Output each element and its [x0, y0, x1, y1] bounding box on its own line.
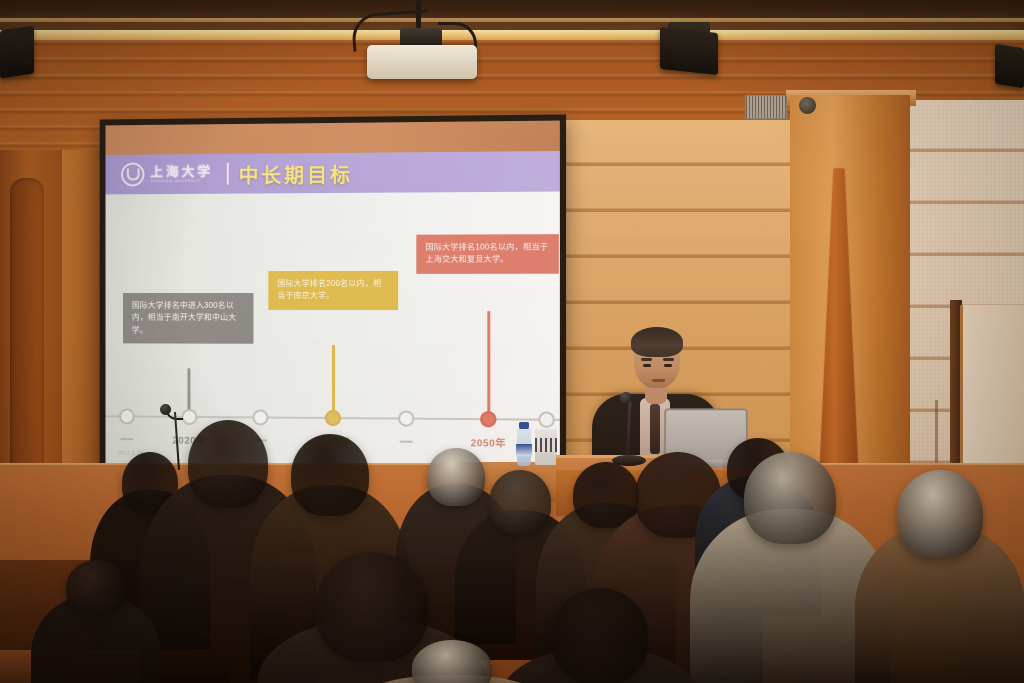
projector-icon — [367, 45, 477, 79]
connector-2050 — [487, 311, 490, 418]
slide-top-band — [106, 121, 560, 155]
audience-member — [31, 560, 161, 683]
water-bottle-label — [516, 444, 532, 456]
university-logo: 上海大学 SHANGHAI UNIVERSITY — [121, 162, 213, 186]
emblem-inner-shape — [126, 169, 139, 181]
logo-text-block: 上海大学 SHANGHAI UNIVERSITY — [150, 165, 213, 184]
timeline-node-1 — [119, 408, 135, 424]
timeline-node-2050 — [480, 411, 496, 427]
audience-member-head — [552, 588, 648, 683]
water-bottle-cap — [519, 422, 529, 429]
presenter-hair — [631, 327, 683, 357]
logo-english-name: SHANGHAI UNIVERSITY — [150, 180, 213, 184]
lecture-hall-photo: 上海大学 SHANGHAI UNIVERSITY 中长期目标 国际大学排名中进入… — [0, 0, 1024, 683]
microphone-icon-floor — [160, 404, 171, 415]
timeline-dash-1 — [121, 438, 134, 440]
presenter-mouth — [652, 379, 665, 382]
loudspeaker-icon-center — [660, 27, 718, 75]
callout-2020: 国际大学排名中进入300名以内，相当于南开大学和中山大学。 — [123, 293, 253, 344]
logo-chinese-name: 上海大学 — [150, 165, 213, 178]
audience-member — [855, 470, 1024, 683]
projector-vent — [745, 95, 787, 119]
presenter-brow-left — [641, 358, 652, 361]
slide-header: 上海大学 SHANGHAI UNIVERSITY 中长期目标 — [106, 151, 560, 194]
projector-lens-icon — [799, 97, 816, 114]
presenter-eye-right — [664, 364, 672, 367]
audience-member-head — [897, 470, 983, 558]
audience-member-head — [744, 452, 836, 544]
left-panel-inlay — [10, 178, 44, 508]
microphone-icon-podium — [620, 392, 632, 404]
university-emblem-icon — [121, 163, 144, 187]
loudspeaker-icon-left — [0, 26, 34, 79]
cup-band — [535, 438, 557, 452]
callout-2050: 国际大学排名100名以内，相当于上海交大和复旦大学。 — [416, 234, 559, 274]
loudspeaker-icon-right — [995, 44, 1024, 89]
audience-member-head — [291, 434, 369, 516]
presenter-eye-left — [643, 364, 651, 367]
presenter-brow-right — [663, 358, 674, 361]
timeline-node-2030 — [325, 410, 341, 426]
audience-member — [357, 640, 547, 683]
slide-title: 中长期目标 — [239, 158, 353, 188]
header-divider — [227, 163, 229, 185]
timeline-node-7 — [538, 411, 554, 427]
audience-member-head — [412, 640, 492, 683]
callout-2030: 国际大学排名200名以内，相当于南京大学。 — [268, 271, 398, 310]
audience-member-head — [66, 560, 126, 616]
connector-2030 — [332, 345, 335, 417]
timeline-node-5 — [398, 410, 414, 426]
presenter-tie — [650, 404, 660, 454]
